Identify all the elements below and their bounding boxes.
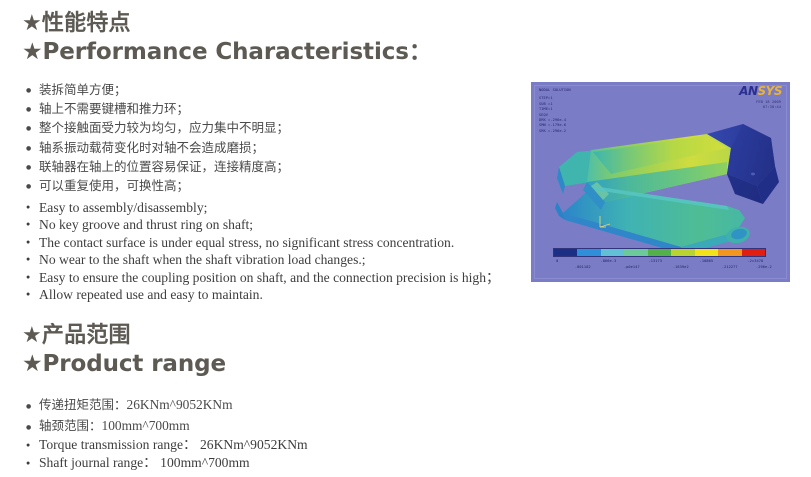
list-item: The contact surface is under equal stres… bbox=[26, 234, 500, 251]
list-item: 轴系振动载荷变化时对轴不会造成磨损； bbox=[26, 138, 289, 157]
ansys-logo: ANSYS bbox=[739, 85, 782, 97]
ansys-logo-an: AN bbox=[739, 84, 757, 98]
list-item: Easy to assembly/disassembly; bbox=[26, 199, 500, 216]
spec-value: 26KNm^9052KNm bbox=[127, 397, 233, 412]
spec-value: 100mm^700mm bbox=[102, 418, 190, 433]
spec-label: 轴颈范围： bbox=[39, 418, 102, 433]
legend-swatch bbox=[577, 249, 600, 256]
fea-timestamp: FEB 18 2009 07:38:44 bbox=[756, 100, 781, 110]
list-item: 整个接触面受力较为均匀，应力集中不明显； bbox=[26, 118, 289, 137]
product-range-heading-block: ★产品范围 ★Product range bbox=[22, 322, 226, 379]
product-range-heading-en: ★Product range bbox=[22, 350, 226, 380]
performance-bullets-en: Easy to assembly/disassembly; No key gro… bbox=[26, 199, 500, 303]
fea-legend-labels-lower: .801182 .p0e147 .1639e2 .212277 .296e-2 bbox=[553, 265, 766, 273]
list-item: Allow repeated use and easy to maintain. bbox=[26, 286, 500, 303]
performance-heading-block: ★性能特点 ★Performance Characteristics： bbox=[22, 10, 432, 67]
fea-solution-info: NODAL SOLUTION STEP=1 SUB =1 TIME=1 SEQV… bbox=[539, 88, 571, 134]
list-item: No key groove and thrust ring on shaft; bbox=[26, 216, 500, 233]
spec-label: 传递扭矩范围： bbox=[39, 397, 127, 412]
list-item: 轴颈范围：100mm^700mm bbox=[26, 415, 232, 436]
list-item: 传递扭矩范围：26KNm^9052KNm bbox=[26, 394, 232, 415]
legend-tick-label: .296e-2 bbox=[756, 265, 772, 269]
list-item: 联轴器在轴上的位置容易保证，连接精度高； bbox=[26, 157, 289, 176]
legend-tick-label: .2c3478 bbox=[747, 259, 763, 263]
fea-legend-bar bbox=[553, 248, 766, 257]
ansys-logo-sys: SYS bbox=[758, 84, 782, 98]
list-item: 轴上不需要键槽和推力环； bbox=[26, 99, 289, 118]
legend-swatch bbox=[601, 249, 624, 256]
ansys-fea-image: ANSYS FEB 18 2009 07:38:44 NODAL SOLUTIO… bbox=[531, 82, 790, 282]
product-range-heading-cn: ★产品范围 bbox=[22, 322, 226, 350]
legend-tick-label: .p0e147 bbox=[624, 265, 640, 269]
legend-tick-label: .866e-3 bbox=[600, 259, 616, 263]
legend-swatch bbox=[648, 249, 671, 256]
legend-swatch bbox=[695, 249, 718, 256]
fea-info-title: NODAL SOLUTION bbox=[539, 88, 571, 93]
legend-swatch bbox=[624, 249, 647, 256]
fea-info-line: SMX =.296e-2 bbox=[539, 129, 571, 134]
fea-coordinate-triad bbox=[597, 214, 613, 229]
list-item: Shaft journal range： 100mm^700mm bbox=[26, 454, 308, 472]
legend-swatch bbox=[671, 249, 694, 256]
legend-swatch bbox=[554, 249, 577, 256]
legend-swatch bbox=[718, 249, 741, 256]
list-item: 装拆简单方便； bbox=[26, 80, 289, 99]
legend-tick-label: .801182 bbox=[575, 265, 591, 269]
performance-bullets-cn: 装拆简单方便； 轴上不需要键槽和推力环； 整个接触面受力较为均匀，应力集中不明显… bbox=[26, 80, 289, 195]
list-item: No wear to the shaft when the shaft vibr… bbox=[26, 251, 500, 268]
legend-tick-label: .10865 bbox=[700, 259, 714, 263]
list-item: Easy to ensure the coupling position on … bbox=[26, 269, 500, 286]
performance-heading-en: ★Performance Characteristics： bbox=[22, 38, 432, 68]
legend-tick-label: .13173 bbox=[648, 259, 662, 263]
legend-tick-label: .1639e2 bbox=[673, 265, 689, 269]
product-range-specs-cn: 传递扭矩范围：26KNm^9052KNm 轴颈范围：100mm^700mm bbox=[26, 394, 232, 436]
list-item: 可以重复使用，可换性高； bbox=[26, 176, 289, 195]
product-range-specs-en: Torque transmission range： 26KNm^9052KNm… bbox=[26, 436, 308, 472]
legend-swatch bbox=[742, 249, 765, 256]
performance-heading-cn: ★性能特点 bbox=[22, 10, 432, 38]
legend-tick-label: .212277 bbox=[722, 265, 738, 269]
fea-timestamp-time: 07:38:44 bbox=[756, 105, 781, 110]
legend-tick-label: 0 bbox=[556, 259, 558, 263]
list-item: Torque transmission range： 26KNm^9052KNm bbox=[26, 436, 308, 454]
